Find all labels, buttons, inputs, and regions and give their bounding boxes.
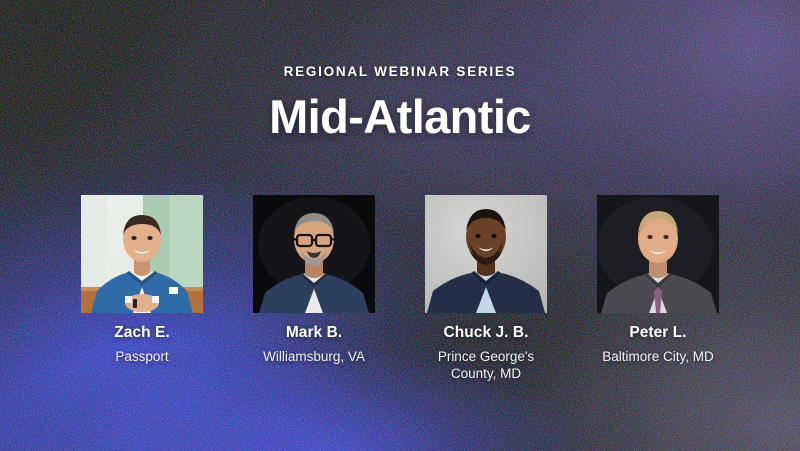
speaker-location: Prince George's County, MD <box>420 348 552 383</box>
speaker-location: Baltimore City, MD <box>592 348 724 365</box>
headshot-zach-e <box>81 195 203 313</box>
speaker-name: Zach E. <box>114 324 169 343</box>
speaker-location: Williamsburg, VA <box>248 348 380 365</box>
headshot-mark-b <box>253 195 375 313</box>
speaker-card-1: Zach E. Passport <box>81 195 203 365</box>
headshot-peter-l <box>597 195 719 313</box>
slide-content: REGIONAL WEBINAR SERIES Mid-Atlantic <box>0 0 800 451</box>
speaker-card-4: Peter L. Baltimore City, MD <box>597 195 719 365</box>
page-title: Mid-Atlantic <box>0 92 800 142</box>
speaker-name: Peter L. <box>629 324 686 343</box>
speaker-name: Mark B. <box>286 324 342 343</box>
speaker-card-2: Mark B. Williamsburg, VA <box>253 195 375 365</box>
speaker-name: Chuck J. B. <box>444 324 529 343</box>
headshot-chuck-j-b <box>425 195 547 313</box>
speaker-card-3: Chuck J. B. Prince George's County, MD <box>425 195 547 382</box>
series-eyebrow: REGIONAL WEBINAR SERIES <box>0 64 800 79</box>
webinar-title-slide: REGIONAL WEBINAR SERIES Mid-Atlantic <box>0 0 800 451</box>
speaker-row: Zach E. Passport <box>0 195 800 382</box>
speaker-location: Passport <box>76 348 208 365</box>
